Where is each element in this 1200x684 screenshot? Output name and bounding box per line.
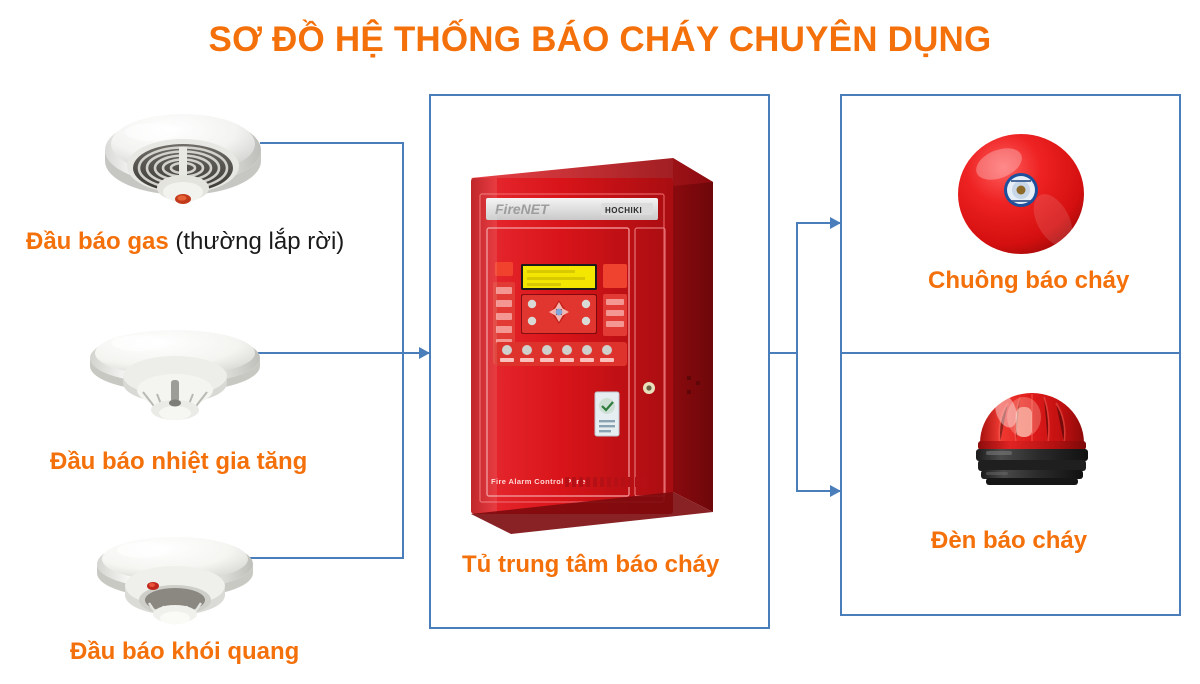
svg-text:HOCHIKI: HOCHIKI: [605, 206, 642, 215]
smoke-detector-label: Đầu báo khói quang: [70, 638, 299, 666]
arrowhead-into-strobe: [830, 485, 841, 497]
output-group-divider: [840, 352, 1181, 354]
heat-detector-label: Đầu báo nhiệt gia tăng: [50, 448, 307, 476]
alarm-bell-icon: [955, 128, 1087, 260]
arrowhead-into-bell: [830, 217, 841, 229]
connector-gas-horizontal: [260, 142, 404, 144]
gas-detector-label-main: Đầu báo gas: [26, 228, 169, 255]
connector-panel-output-stub: [769, 352, 798, 354]
gas-detector-label: Đầu báo gas (thường lắp rời): [26, 228, 344, 256]
fire-alarm-system-diagram: SƠ ĐỒ HỆ THỐNG BÁO CHÁY CHUYÊN DỤNG: [0, 0, 1200, 684]
connector-left-trunk-upper: [402, 142, 404, 354]
connector-smoke-horizontal: [248, 557, 404, 559]
control-panel-label: Tủ trung tâm báo cháy: [462, 551, 719, 579]
heat-detector-icon: [85, 318, 265, 433]
page-title: SƠ ĐỒ HỆ THỐNG BÁO CHÁY CHUYÊN DỤNG: [0, 20, 1200, 60]
alarm-bell-label: Chuông báo cháy: [928, 267, 1129, 295]
smoke-detector-icon: [93, 530, 258, 640]
connector-output-trunk: [796, 222, 798, 492]
alarm-strobe-label: Đèn báo cháy: [931, 527, 1087, 555]
alarm-strobe-light-icon: [972, 385, 1092, 495]
connector-left-trunk-lower: [402, 352, 404, 559]
fire-alarm-control-panel-icon: FireNET HOCHIKI: [455, 140, 720, 540]
gas-detector-label-sub: (thường lắp rời): [169, 228, 345, 255]
gas-detector-icon: [95, 92, 270, 222]
arrowhead-into-control-panel: [419, 347, 430, 359]
svg-text:FireNET: FireNET: [495, 201, 550, 217]
